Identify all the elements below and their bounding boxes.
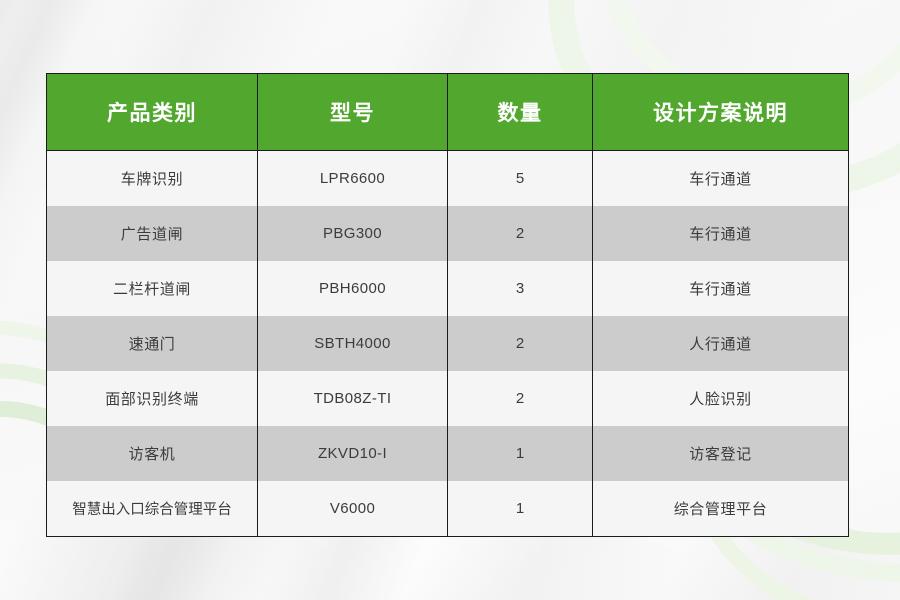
column-header-model: 型号 xyxy=(258,74,448,151)
cell-category: 智慧出入口综合管理平台 xyxy=(47,481,258,537)
table-row: 面部识别终端 TDB08Z-TI 2 人脸识别 xyxy=(47,371,849,426)
cell-description: 人脸识别 xyxy=(593,371,849,426)
table-row: 广告道闸 PBG300 2 车行通道 xyxy=(47,206,849,261)
table-header: 产品类别 型号 数量 设计方案说明 xyxy=(47,74,849,151)
cell-quantity: 2 xyxy=(448,206,593,261)
column-header-description: 设计方案说明 xyxy=(593,74,849,151)
cell-model: LPR6600 xyxy=(258,151,448,207)
cell-model: TDB08Z-TI xyxy=(258,371,448,426)
product-spec-table: 产品类别 型号 数量 设计方案说明 车牌识别 LPR6600 5 车行通道 广告… xyxy=(46,73,849,537)
column-header-category: 产品类别 xyxy=(47,74,258,151)
cell-quantity: 1 xyxy=(448,426,593,481)
cell-model: PBH6000 xyxy=(258,261,448,316)
cell-category: 广告道闸 xyxy=(47,206,258,261)
table-body: 车牌识别 LPR6600 5 车行通道 广告道闸 PBG300 2 车行通道 二… xyxy=(47,151,849,537)
cell-model: SBTH4000 xyxy=(258,316,448,371)
page-root: 产品类别 型号 数量 设计方案说明 车牌识别 LPR6600 5 车行通道 广告… xyxy=(0,0,900,600)
table-row: 访客机 ZKVD10-I 1 访客登记 xyxy=(47,426,849,481)
cell-category: 车牌识别 xyxy=(47,151,258,207)
cell-quantity: 5 xyxy=(448,151,593,207)
cell-description: 综合管理平台 xyxy=(593,481,849,537)
cell-description: 人行通道 xyxy=(593,316,849,371)
cell-category: 速通门 xyxy=(47,316,258,371)
cell-model: V6000 xyxy=(258,481,448,537)
cell-description: 车行通道 xyxy=(593,206,849,261)
cell-quantity: 1 xyxy=(448,481,593,537)
cell-category: 二栏杆道闸 xyxy=(47,261,258,316)
cell-category: 面部识别终端 xyxy=(47,371,258,426)
table-row: 智慧出入口综合管理平台 V6000 1 综合管理平台 xyxy=(47,481,849,537)
cell-description: 访客登记 xyxy=(593,426,849,481)
cell-model: PBG300 xyxy=(258,206,448,261)
cell-model: ZKVD10-I xyxy=(258,426,448,481)
column-header-quantity: 数量 xyxy=(448,74,593,151)
table-row: 速通门 SBTH4000 2 人行通道 xyxy=(47,316,849,371)
table-row: 二栏杆道闸 PBH6000 3 车行通道 xyxy=(47,261,849,316)
cell-quantity: 3 xyxy=(448,261,593,316)
header-row: 产品类别 型号 数量 设计方案说明 xyxy=(47,74,849,151)
table-row: 车牌识别 LPR6600 5 车行通道 xyxy=(47,151,849,207)
cell-description: 车行通道 xyxy=(593,151,849,207)
cell-quantity: 2 xyxy=(448,371,593,426)
spec-table-container: 产品类别 型号 数量 设计方案说明 车牌识别 LPR6600 5 车行通道 广告… xyxy=(46,73,848,537)
cell-description: 车行通道 xyxy=(593,261,849,316)
cell-category: 访客机 xyxy=(47,426,258,481)
cell-quantity: 2 xyxy=(448,316,593,371)
